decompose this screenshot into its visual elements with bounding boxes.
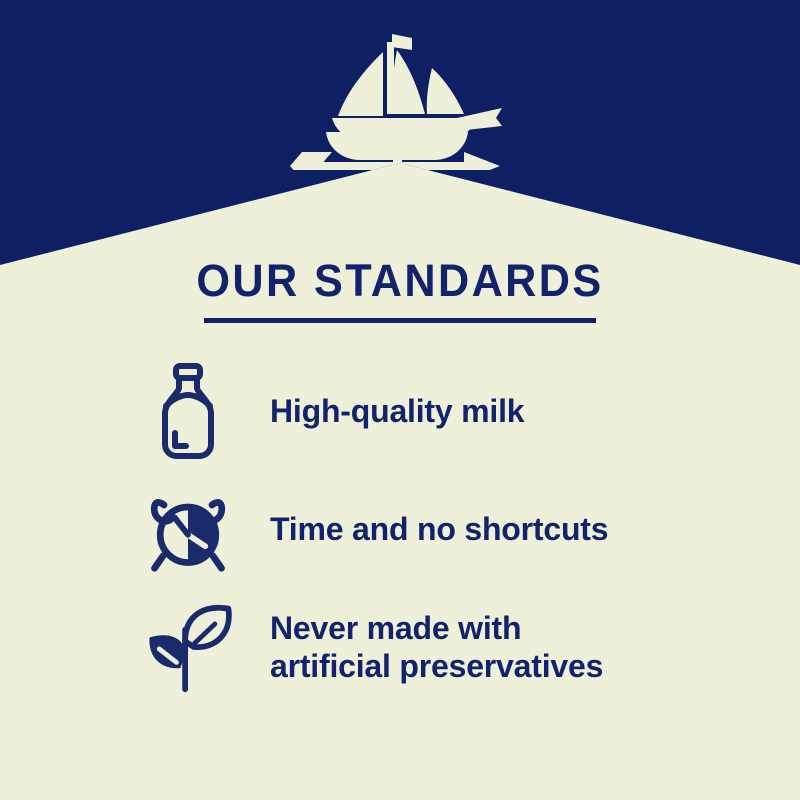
- list-item: Time and no shortcuts: [0, 470, 800, 588]
- sailing-ship-weathervane-logo: [288, 28, 512, 170]
- list-item-label-line2: artificial preservatives: [270, 647, 603, 685]
- title-block: OUR STANDARDS: [0, 255, 800, 323]
- navy-banner: [0, 0, 800, 275]
- list-item-label: Time and no shortcuts: [270, 510, 608, 548]
- list-item-label-line1: Time and no shortcuts: [270, 511, 608, 547]
- standards-list: High-quality milk: [0, 352, 800, 706]
- list-item: High-quality milk: [0, 352, 800, 470]
- our-standards-poster: OUR STANDARDS: [0, 0, 800, 800]
- list-item-label-line1: Never made with: [270, 610, 521, 646]
- list-item: Never made with artificial preservatives: [0, 588, 800, 706]
- page-title: OUR STANDARDS: [16, 255, 784, 307]
- milk-bottle-icon: [140, 361, 236, 461]
- list-item-label: High-quality milk: [270, 392, 524, 430]
- title-underline-rule: [204, 318, 596, 323]
- alarm-clock-icon: [140, 479, 236, 579]
- plant-sprout-icon: [140, 597, 236, 697]
- list-item-label-line1: High-quality milk: [270, 393, 524, 429]
- list-item-label: Never made with artificial preservatives: [270, 609, 603, 685]
